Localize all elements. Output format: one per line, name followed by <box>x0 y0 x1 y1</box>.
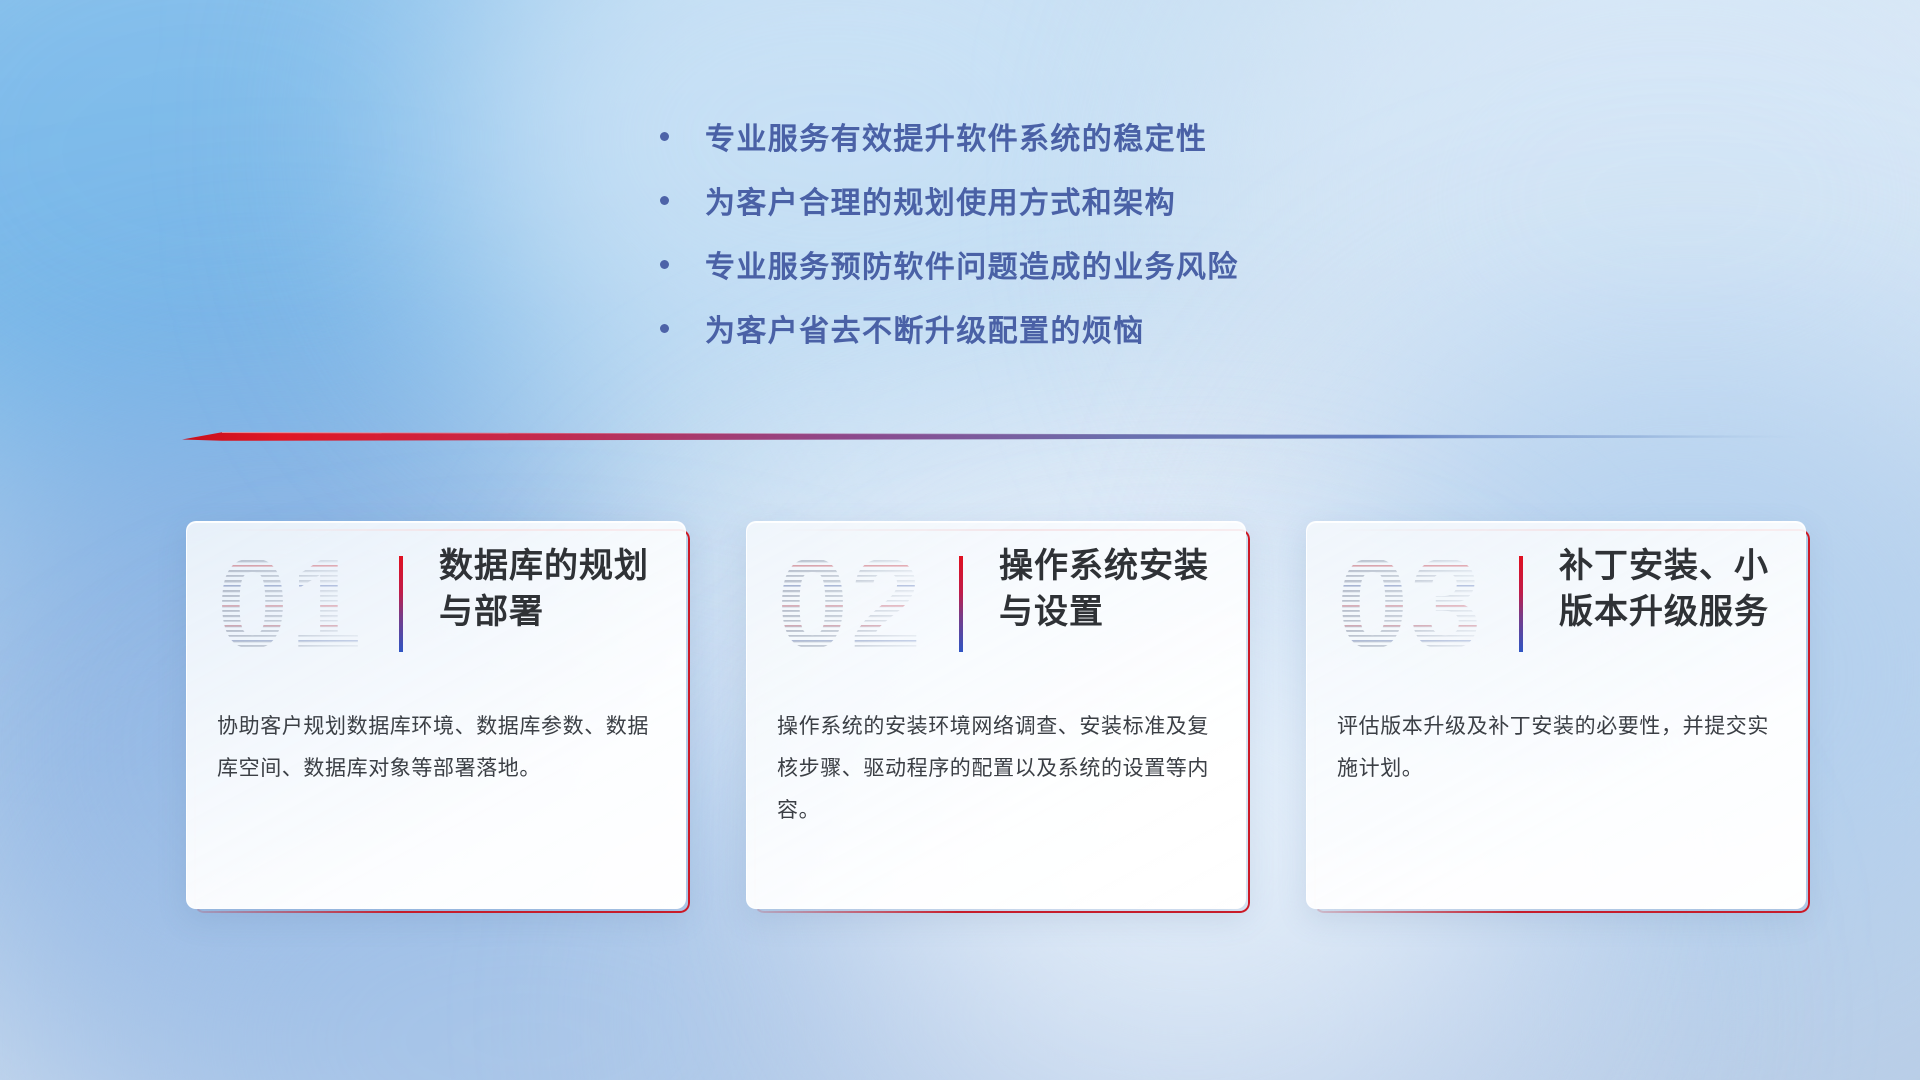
bullet-label: 为客户合理的规划使用方式和架构 <box>705 178 1176 222</box>
service-card-01[interactable]: 01 <box>186 521 686 909</box>
card-header: 03 <box>1307 522 1805 698</box>
card-number-01-graphic: 01 <box>217 548 369 666</box>
benefits-bullet-list: 专业服务有效提升软件系统的稳定性 为客户合理的规划使用方式和架构 专业服务预防软… <box>660 104 1239 360</box>
bullet-label: 专业服务预防软件问题造成的业务风险 <box>705 242 1239 286</box>
card-title: 操作系统安装与设置 <box>999 544 1227 636</box>
card-number-02-graphic: 02 <box>777 548 929 666</box>
service-card-03[interactable]: 03 <box>1306 521 1806 909</box>
card-accent-rule <box>959 556 963 652</box>
list-item: 为客户合理的规划使用方式和架构 <box>660 168 1239 232</box>
list-item: 专业服务有效提升软件系统的稳定性 <box>660 104 1239 168</box>
list-item: 为客户省去不断升级配置的烦恼 <box>660 296 1239 360</box>
card-title: 补丁安装、小版本升级服务 <box>1559 544 1787 636</box>
bullet-dot-icon <box>660 260 669 269</box>
bullet-dot-icon <box>660 196 669 205</box>
card-body-text: 协助客户规划数据库环境、数据库参数、数据库空间、数据库对象等部署落地。 <box>217 706 659 790</box>
bullet-dot-icon <box>660 324 669 333</box>
card-panel: 02 <box>746 521 1246 909</box>
card-header: 02 <box>747 522 1245 698</box>
card-panel: 01 <box>186 521 686 909</box>
bullet-label: 为客户省去不断升级配置的烦恼 <box>705 306 1145 350</box>
bullet-label: 专业服务有效提升软件系统的稳定性 <box>705 114 1207 158</box>
card-header: 01 <box>187 522 685 698</box>
card-accent-rule <box>1519 556 1523 652</box>
bullet-dot-icon <box>660 132 669 141</box>
service-card-02[interactable]: 02 <box>746 521 1246 909</box>
card-accent-rule <box>399 556 403 652</box>
service-card-group: 01 <box>186 521 1806 909</box>
list-item: 专业服务预防软件问题造成的业务风险 <box>660 232 1239 296</box>
card-number-03-graphic: 03 <box>1337 548 1489 666</box>
card-panel: 03 <box>1306 521 1806 909</box>
card-body-text: 操作系统的安装环境网络调查、安装标准及复核步骤、驱动程序的配置以及系统的设置等内… <box>777 706 1219 832</box>
card-body-text: 评估版本升级及补丁安装的必要性，并提交实施计划。 <box>1337 706 1779 790</box>
section-divider <box>182 428 1802 444</box>
card-title: 数据库的规划与部署 <box>439 544 667 636</box>
